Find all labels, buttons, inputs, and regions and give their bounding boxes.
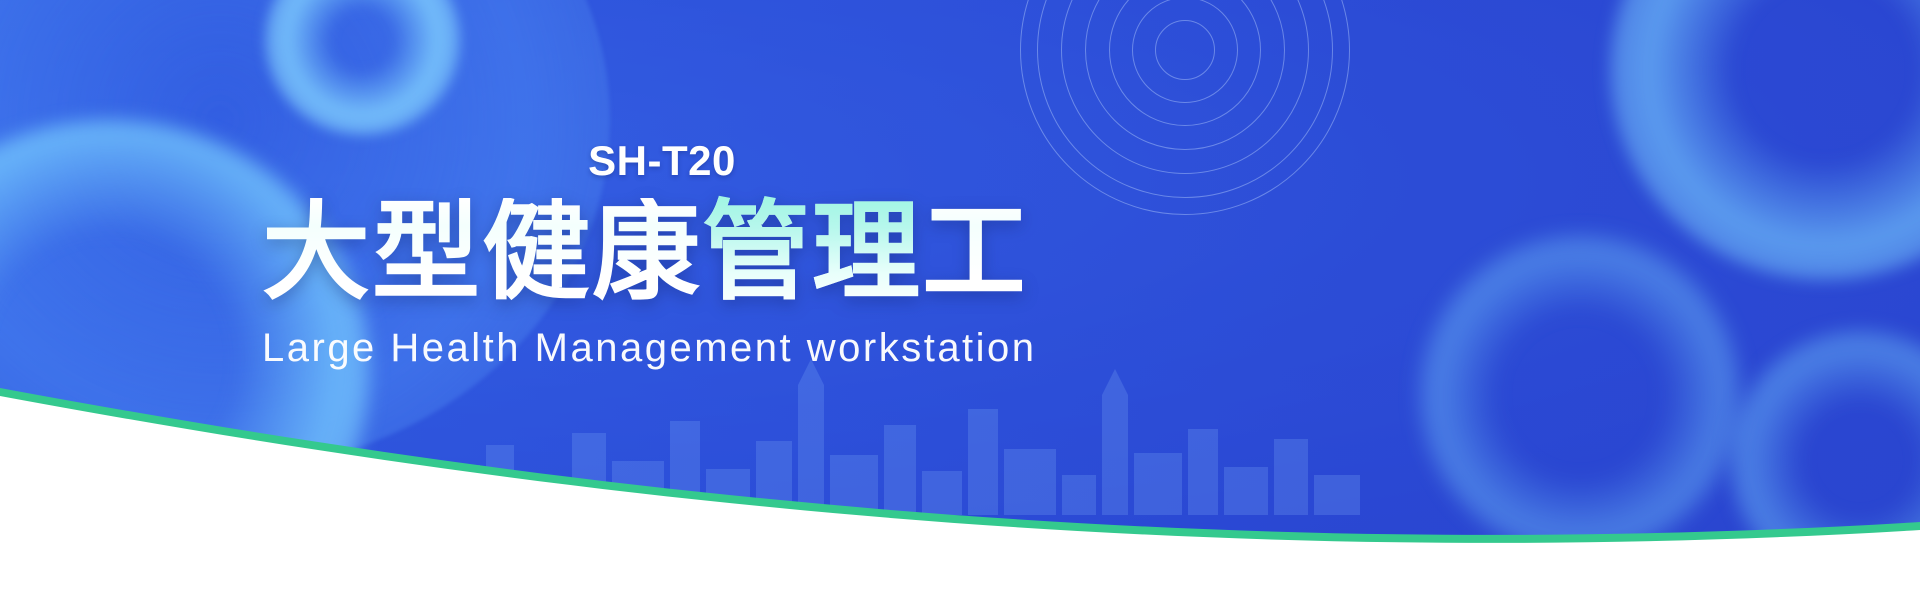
page-title: 大型健康管理工作站 [262, 198, 1022, 306]
headline-segment-mint: 管理 [702, 191, 922, 312]
headline-segment-white: 大型健康 [262, 191, 702, 312]
product-hero-banner: 上禾科技 SHANGHE [0, 0, 1920, 600]
banner-copy-block: SH-T20 大型健康管理工作站 Large Health Management… [262, 140, 1022, 371]
product-model-label: SH-T20 [262, 140, 1022, 182]
headline-segment-white-2: 工作站 [922, 191, 1252, 312]
page-subtitle: Large Health Management workstation [262, 326, 1022, 371]
